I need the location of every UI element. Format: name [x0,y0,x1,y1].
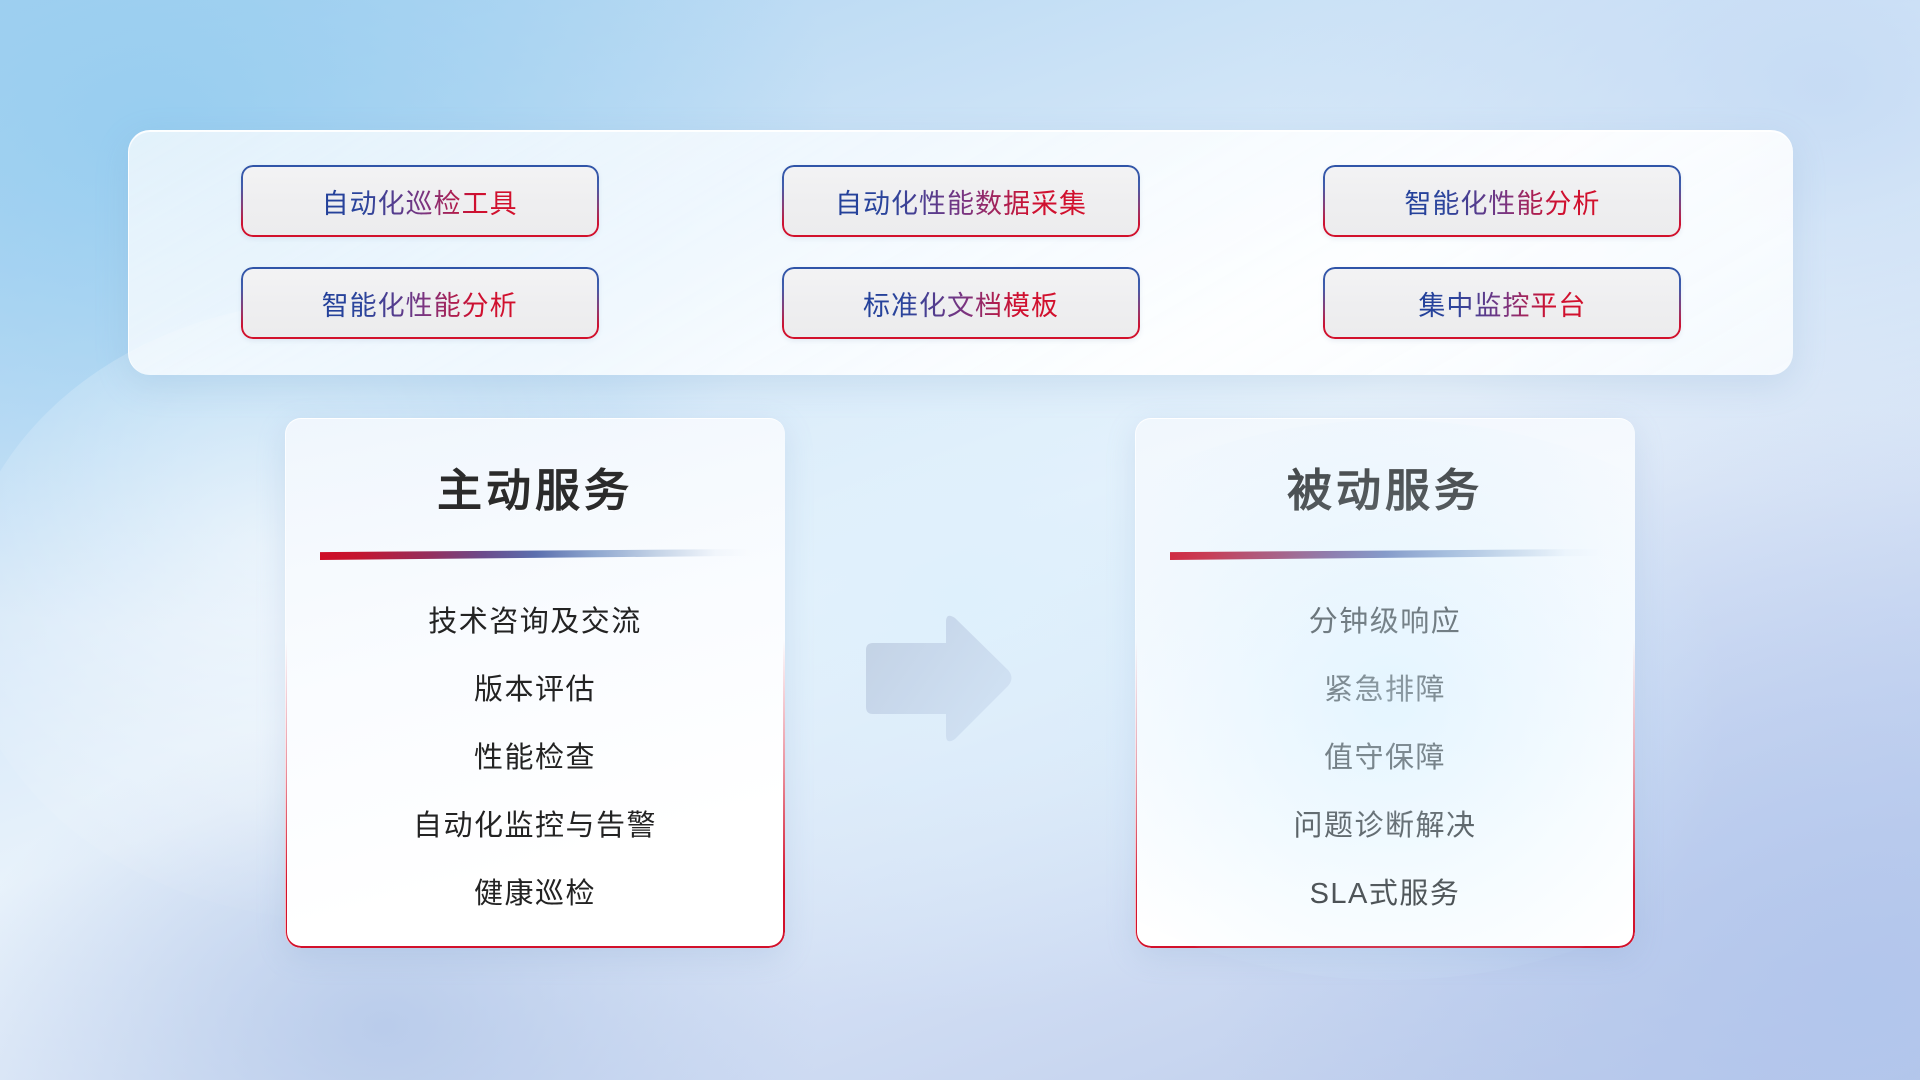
capability-chip[interactable]: 标准化文档模板 [782,267,1140,339]
capability-chip-label: 自动化巡检工具 [322,182,518,221]
card-list-item: SLA式服务 [1310,870,1461,912]
card-list-item: 版本评估 [474,666,596,708]
card-item-list: 分钟级响应 紧急排障 值守保障 问题诊断解决 SLA式服务 [1135,598,1635,912]
card-item-list: 技术咨询及交流 版本评估 性能检查 自动化监控与告警 健康巡检 [285,598,785,912]
card-title: 被动服务 [1135,454,1635,519]
capability-chip[interactable]: 自动化性能数据采集 [782,165,1140,237]
capability-chip-label: 集中监控平台 [1418,284,1586,323]
capability-chip[interactable]: 智能化性能分析 [241,267,599,339]
service-card-proactive: 主动服务 技术咨询及交流 版本评估 性能检查 自动化监控与告警 健康巡检 [285,418,785,948]
card-list-item: 自动化监控与告警 [413,802,657,844]
capability-chip[interactable]: 集中监控平台 [1323,267,1681,339]
capability-chip-label: 智能化性能分析 [322,284,518,323]
capability-chip-label: 智能化性能分析 [1404,182,1600,221]
card-list-item: 紧急排障 [1324,666,1446,708]
card-divider [320,549,750,560]
slide-canvas: 自动化巡检工具 自动化性能数据采集 智能化性能分析 智能化性能分析 标准化文档模… [0,0,1920,1080]
card-list-item: 分钟级响应 [1309,598,1462,640]
card-list-item: 健康巡检 [474,870,596,912]
capability-chip[interactable]: 智能化性能分析 [1323,165,1681,237]
card-list-item: 问题诊断解决 [1293,802,1476,844]
card-divider-bar [320,549,750,560]
capabilities-panel: 自动化巡检工具 自动化性能数据采集 智能化性能分析 智能化性能分析 标准化文档模… [128,130,1793,375]
capability-chip-label: 标准化文档模板 [863,284,1059,323]
card-divider-bar [1170,549,1600,560]
arrow-right-icon [856,610,1016,750]
card-title: 主动服务 [285,454,785,519]
capability-chip[interactable]: 自动化巡检工具 [241,165,599,237]
card-list-item: 技术咨询及交流 [428,598,642,640]
card-list-item: 值守保障 [1324,734,1446,776]
capability-chip-label: 自动化性能数据采集 [835,182,1087,221]
card-list-item: 性能检查 [474,734,596,776]
card-divider [1170,549,1600,560]
service-card-reactive: 被动服务 分钟级响应 紧急排障 值守保障 问题诊断解决 SLA式服务 [1135,418,1635,948]
